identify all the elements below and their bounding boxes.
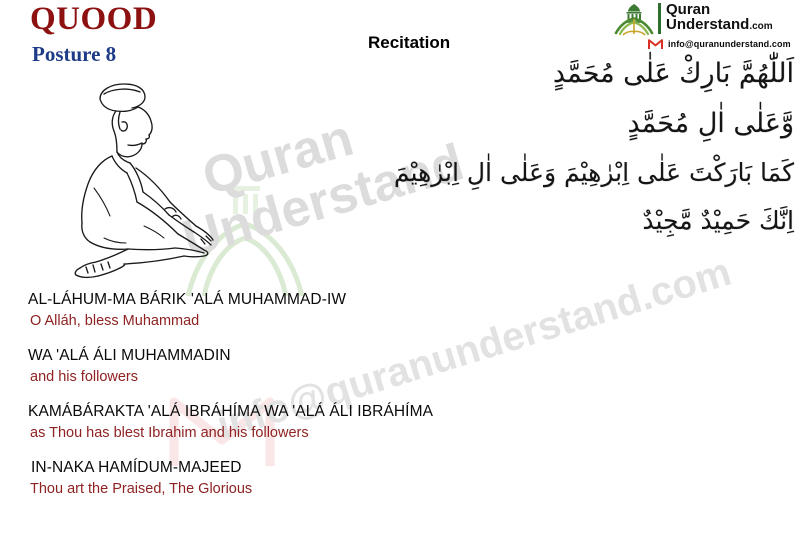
page-title: QUOOD [30, 1, 157, 38]
verse-translation: as Thou has blest Ibrahim and his follow… [30, 424, 628, 442]
arabic-line-2: وَّعَلٰى اٰلِ مُحَمَّدٍ [294, 110, 794, 160]
verse-transliteration: IN-NAKA HAMÍDUM-MAJEED [31, 459, 628, 478]
verses-block: AL-LÁHUM-MA BÁRIK 'ALÁ MUHAMMAD-IW O All… [28, 291, 628, 498]
verse-translation: O Alláh, bless Muhammad [30, 312, 628, 330]
brand-email-row[interactable]: info@quranunderstand.com [648, 38, 791, 50]
brand-email-text: info@quranunderstand.com [668, 39, 791, 49]
brand-tld: .com [749, 21, 772, 32]
verse-translation: Thou art the Praised, The Glorious [30, 480, 628, 498]
page-subtitle: Posture 8 [32, 42, 116, 67]
brand-line-understand: Understand [666, 16, 749, 33]
quood-posture-figure-icon [48, 78, 248, 286]
page-root: Quran Understand info@quranunderstand.co… [0, 0, 800, 533]
mosque-book-logo-icon [612, 2, 656, 36]
arabic-line-1: اَللّٰهُمَّ بَارِكْ عَلٰى مُحَمَّدٍ [294, 60, 794, 110]
verse-item: IN-NAKA HAMÍDUM-MAJEED Thou art the Prai… [28, 459, 628, 498]
brand-line-quran: Quran [666, 2, 773, 17]
arabic-recitation-block: اَللّٰهُمَّ بَارِكْ عَلٰى مُحَمَّدٍ وَّع… [294, 60, 794, 233]
verse-transliteration: KAMÁBÁRAKTA 'ALÁ IBRÁHÍMA WA 'ALÁ ÁLI IB… [28, 403, 628, 422]
verse-translation: and his followers [30, 368, 628, 386]
gmail-icon [648, 38, 663, 50]
arabic-line-3: كَمَا بَارَكْتَ عَلٰى اِبْرٰهِيْمَ وَعَل… [294, 160, 794, 208]
arabic-line-4: اِنَّكَ حَمِيْدٌ مَّجِيْدٌ [294, 208, 794, 233]
brand-divider-bar [658, 3, 661, 34]
verse-item: WA 'ALÁ ÁLI MUHAMMADIN and his followers [28, 347, 628, 386]
verse-transliteration: WA 'ALÁ ÁLI MUHAMMADIN [28, 347, 628, 366]
verse-item: KAMÁBÁRAKTA 'ALÁ IBRÁHÍMA WA 'ALÁ ÁLI IB… [28, 403, 628, 442]
verse-item: AL-LÁHUM-MA BÁRIK 'ALÁ MUHAMMAD-IW O All… [28, 291, 628, 330]
section-heading-recitation: Recitation [368, 33, 450, 53]
verse-transliteration: AL-LÁHUM-MA BÁRIK 'ALÁ MUHAMMAD-IW [28, 291, 628, 310]
brand-logo[interactable]: Quran Understand.com [612, 2, 773, 36]
brand-wordmark: Quran Understand.com [666, 2, 773, 33]
